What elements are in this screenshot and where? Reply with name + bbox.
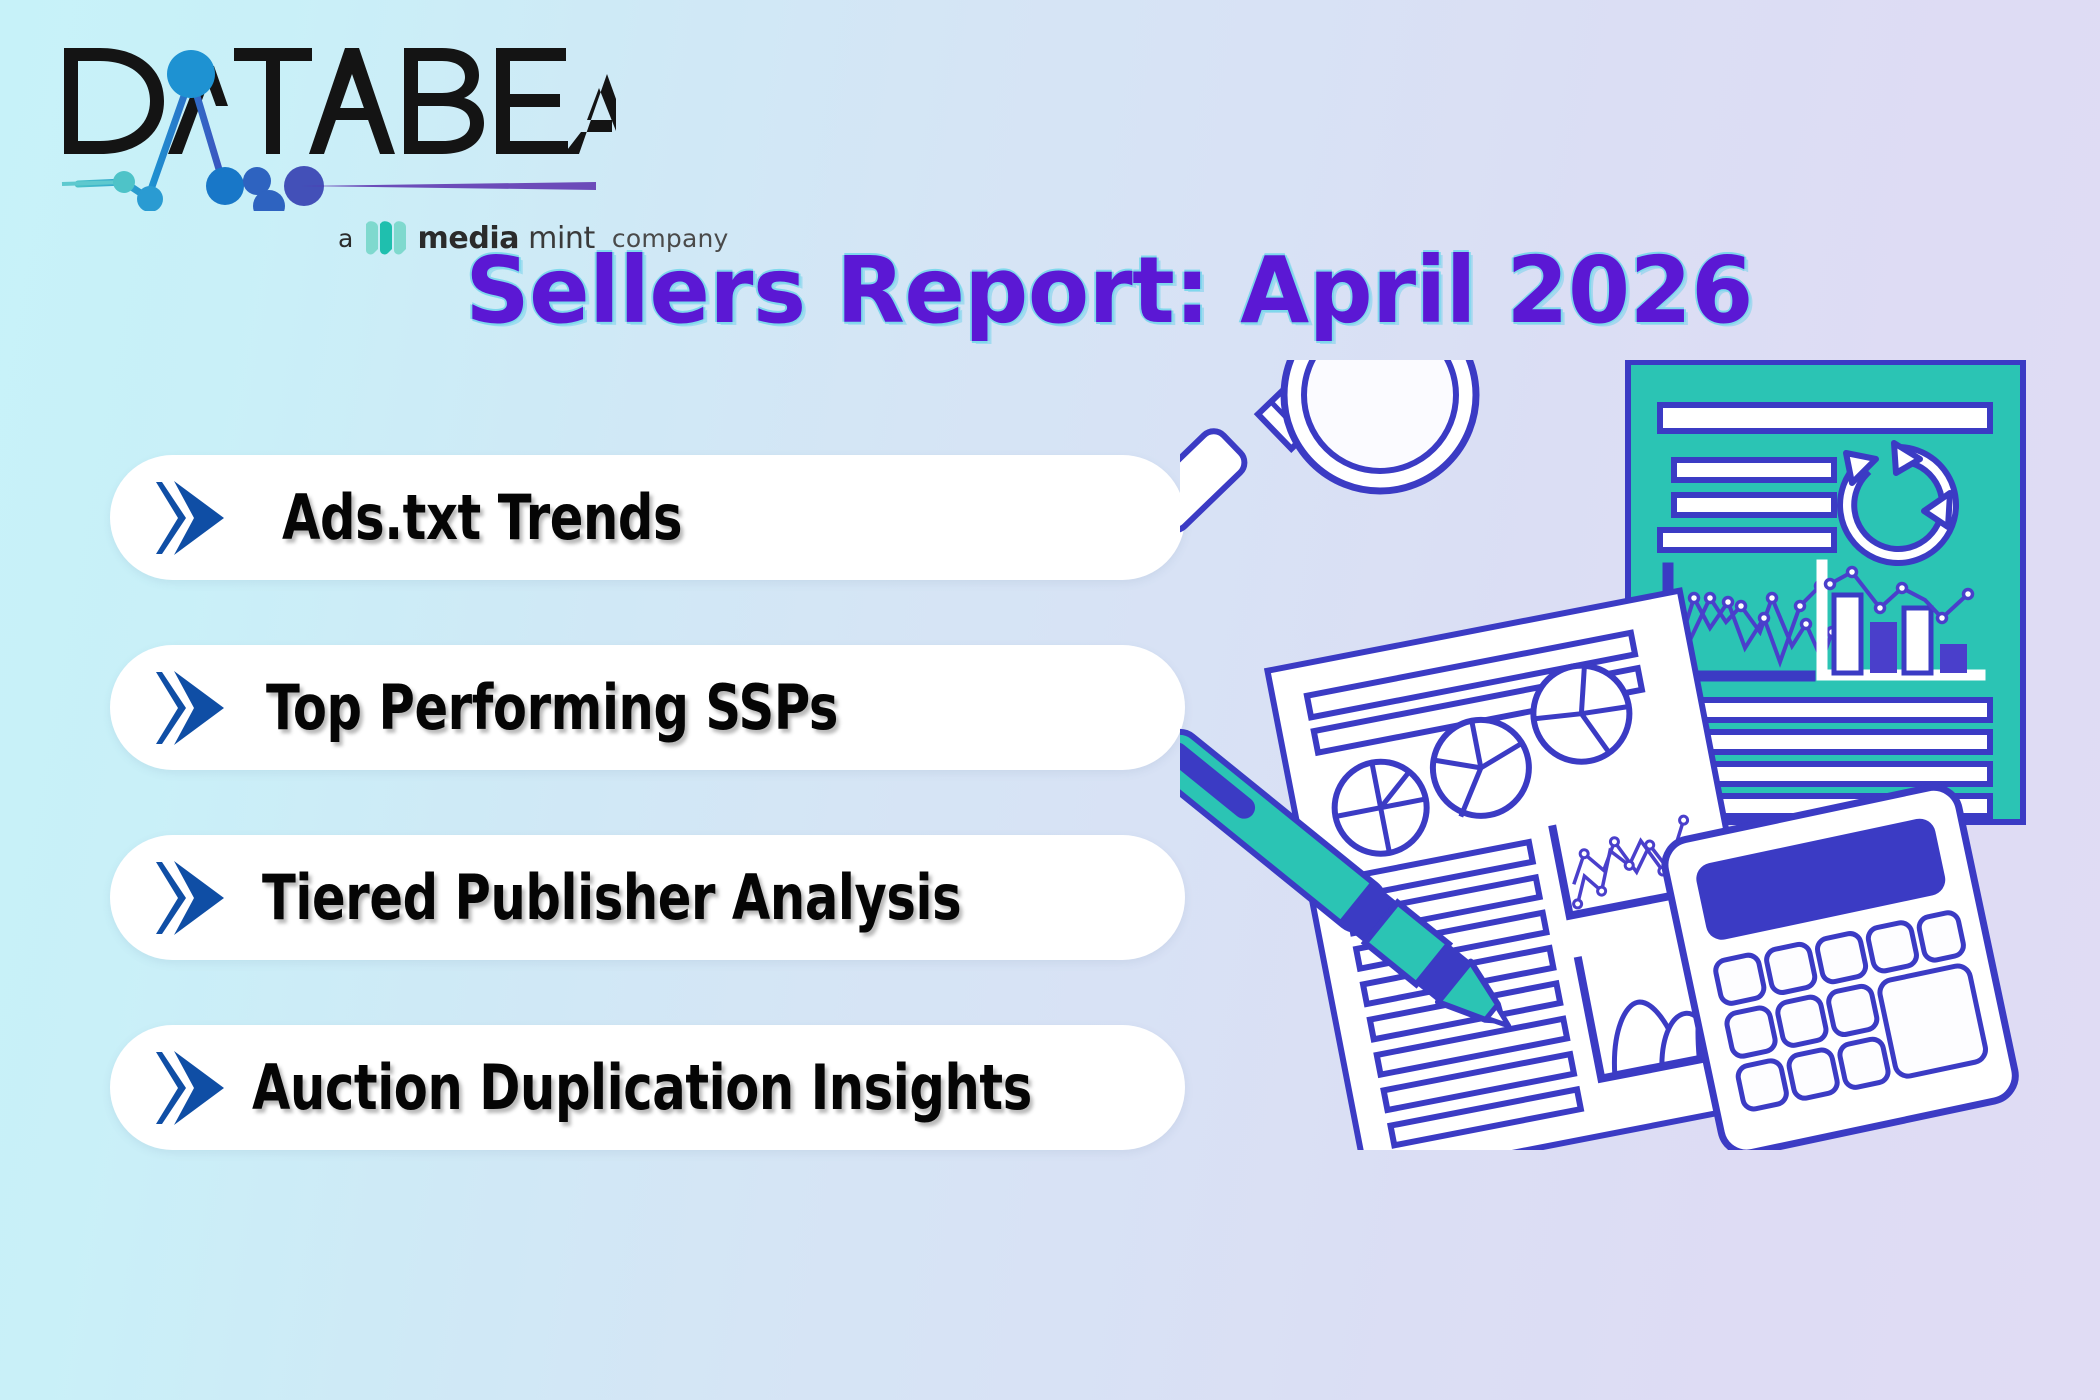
agenda-list: Ads.txt Trends Top Performing SSPs Tiere… [110, 455, 1185, 1215]
calculator-icon [1660, 783, 2020, 1150]
agenda-item-ads-txt-trends[interactable]: Ads.txt Trends [110, 455, 1185, 580]
mediamint-m-icon [363, 219, 409, 257]
databeat-wordmark [56, 36, 616, 166]
agenda-item-label: Auction Duplication Insights [252, 1051, 1032, 1124]
agenda-item-auction-duplication-insights[interactable]: Auction Duplication Insights [110, 1025, 1185, 1150]
double-chevron-icon [152, 1046, 230, 1130]
double-chevron-icon [152, 856, 230, 940]
agenda-item-tiered-publisher-analysis[interactable]: Tiered Publisher Analysis [110, 835, 1185, 960]
slide-canvas: a mediamint company Sellers Report: Apri… [0, 0, 2100, 1400]
agenda-item-label: Ads.txt Trends [282, 481, 682, 554]
double-chevron-icon [152, 476, 230, 560]
agenda-item-label: Tiered Publisher Analysis [262, 861, 961, 934]
double-chevron-icon [152, 666, 230, 750]
data-analysis-documents-illustration [1180, 360, 2080, 1150]
magnifier-icon [1180, 360, 1476, 536]
tagline-prefix: a [338, 224, 354, 253]
brand-logo: a mediamint company [56, 36, 656, 221]
agenda-item-label: Top Performing SSPs [266, 671, 838, 744]
page-title: Sellers Report: April 2026 [465, 243, 1716, 340]
agenda-item-top-performing-ssps[interactable]: Top Performing SSPs [110, 645, 1185, 770]
